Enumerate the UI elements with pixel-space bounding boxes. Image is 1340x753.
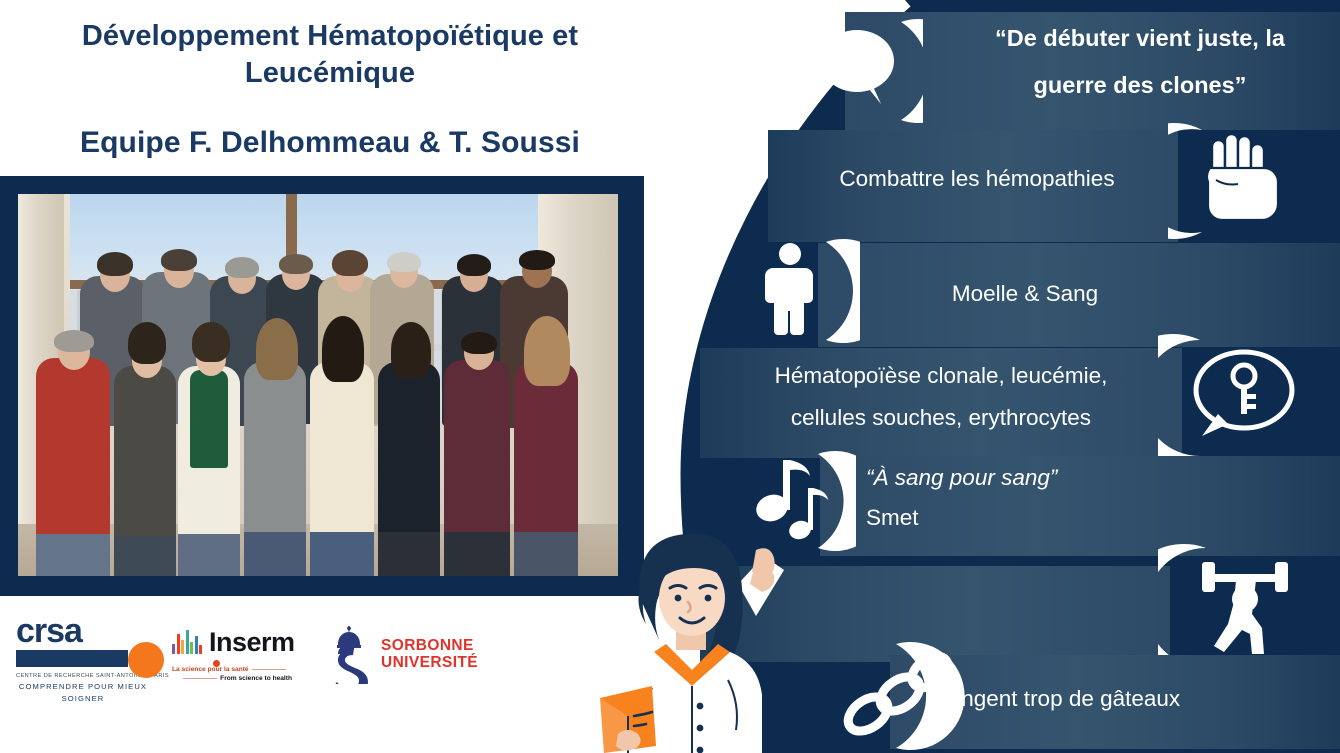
row-5-line-2: Smet xyxy=(866,502,1286,534)
row-3-text: Moelle & Sang xyxy=(860,278,1190,310)
row-5-line-1: “À sang pour sang” xyxy=(866,462,1286,494)
row-4-line-1: Hématopoïèse clonale, leucémie, xyxy=(716,360,1166,392)
doctor-illustration xyxy=(588,520,798,753)
row-1-text: “De débuter vient juste, la guerre des c… xyxy=(940,22,1340,103)
row-2-text: Combattre les hémopathies xyxy=(792,163,1162,195)
row-4-text: Hématopoïèse clonale, leucémie, cellules… xyxy=(716,360,1166,434)
row-7-text: Mangent trop de gâteaux xyxy=(930,683,1330,715)
row-4-line-2: cellules souches, erythrocytes xyxy=(716,402,1166,434)
slide-canvas: Développement Hématopoïétique et Leucémi… xyxy=(0,0,1340,753)
row-1-line-1: “De débuter vient juste, la xyxy=(940,22,1340,55)
right-panel: “De débuter vient juste, la guerre des c… xyxy=(0,0,1340,753)
fist-icon xyxy=(1168,122,1286,240)
key-bubble-icon xyxy=(1158,332,1308,464)
speech-bubble-icon xyxy=(805,12,923,130)
row-5-text: “À sang pour sang” Smet xyxy=(866,462,1286,534)
row-1-line-2: guerre des clones” xyxy=(940,69,1340,102)
person-icon xyxy=(742,232,860,350)
